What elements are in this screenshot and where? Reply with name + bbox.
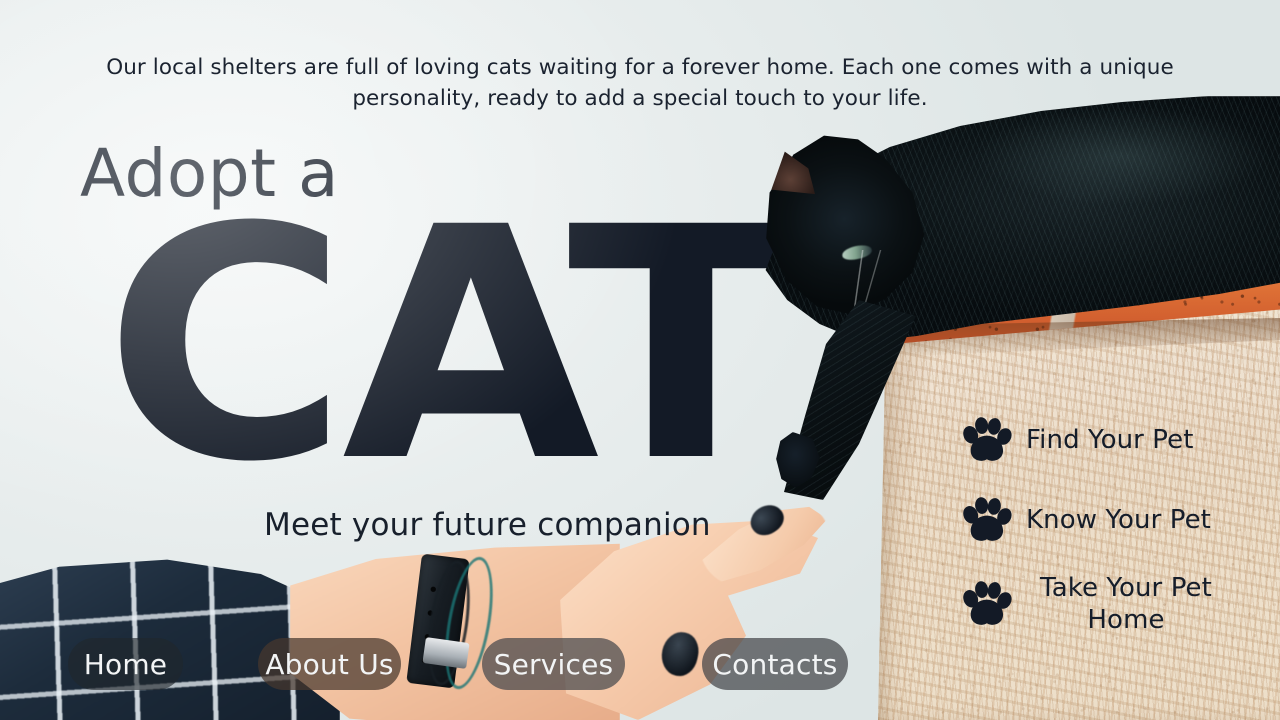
feature-label: Find Your Pet <box>1026 424 1194 456</box>
feature-label: Take Your Pet Home <box>1026 572 1226 636</box>
feature-list: Find Your Pet Know Your Pet Take Your Pe… <box>958 412 1258 636</box>
paw-print-icon <box>958 576 1014 632</box>
feature-item-find-your-pet[interactable]: Find Your Pet <box>958 412 1258 468</box>
paw-print-icon <box>958 412 1014 468</box>
paw-print-icon <box>958 492 1014 548</box>
hero-headline: CAT <box>104 196 788 496</box>
nav-item-services[interactable]: Services <box>482 638 625 690</box>
hero-tagline: Meet your future companion <box>264 505 711 545</box>
main-navigation: Home About Us Services Contacts <box>0 638 1280 690</box>
nav-item-contacts[interactable]: Contacts <box>702 638 848 690</box>
hero-banner: Adopt a CAT Our local shelters are full … <box>0 0 1280 720</box>
feature-item-know-your-pet[interactable]: Know Your Pet <box>958 492 1258 548</box>
intro-paragraph: Our local shelters are full of loving ca… <box>78 52 1202 114</box>
feature-item-take-your-pet-home[interactable]: Take Your Pet Home <box>958 572 1258 636</box>
nav-item-about-us[interactable]: About Us <box>258 638 401 690</box>
feature-label: Know Your Pet <box>1026 504 1211 536</box>
nav-item-home[interactable]: Home <box>68 638 183 690</box>
